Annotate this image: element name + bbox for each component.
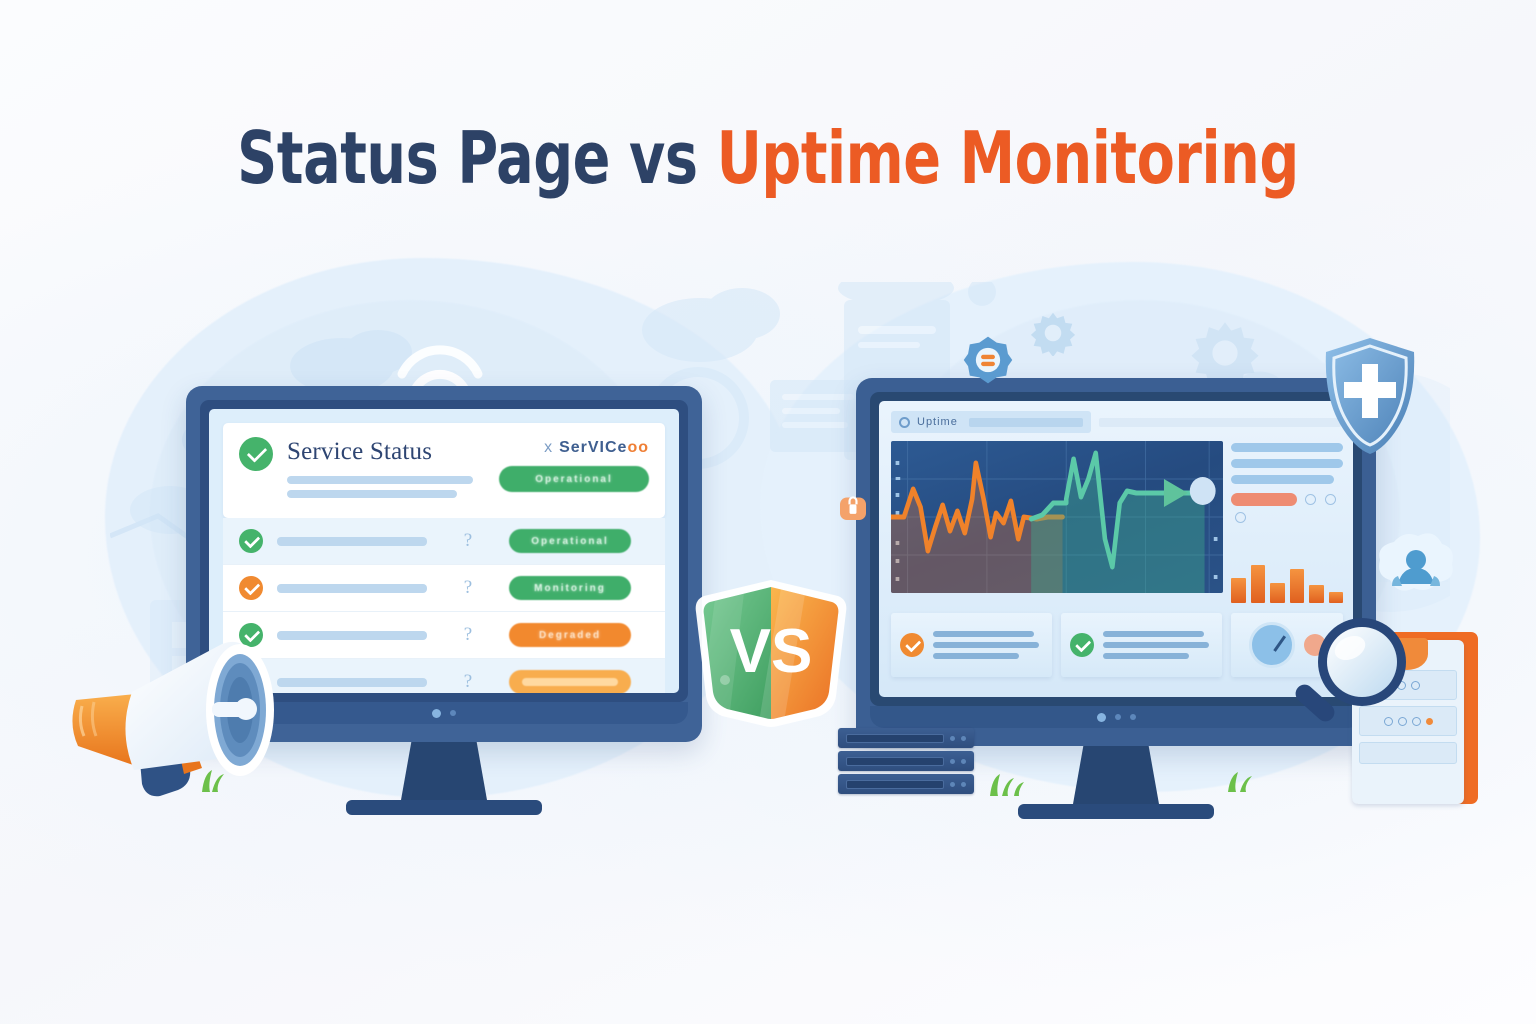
incident-bar-chart	[1231, 543, 1343, 603]
status-badge[interactable]	[509, 670, 631, 693]
shield-health-icon	[1322, 336, 1418, 456]
dashboard-status-cards	[891, 613, 1343, 677]
check-circle-icon	[900, 633, 924, 657]
check-circle-icon	[239, 437, 273, 471]
response-time-line-chart	[891, 441, 1223, 593]
indicator-led	[1130, 714, 1136, 720]
dashboard-side-panel	[1231, 441, 1343, 603]
page-title-banner: Status Page vs Uptime Monitoring	[0, 122, 1536, 194]
check-circle-icon	[1070, 633, 1094, 657]
monitor-base-right	[1018, 804, 1214, 819]
server-unit	[838, 774, 974, 794]
status-dot-icon	[899, 417, 910, 428]
grass-decoration	[1222, 768, 1264, 792]
status-card-warning[interactable]	[891, 613, 1052, 677]
side-panel-chip-row	[1231, 491, 1343, 527]
table-row[interactable]: ? Operational	[223, 518, 665, 565]
tab-uptime[interactable]: Uptime	[891, 411, 1091, 433]
power-led	[1097, 713, 1106, 722]
check-circle-icon	[239, 576, 263, 600]
illustration-canvas: Service Status xSerVICeoo Operational	[0, 0, 1536, 1024]
status-badge[interactable]: Operational	[499, 466, 649, 492]
headline-connector: vs	[610, 116, 717, 200]
user-avatar-badge	[1374, 532, 1458, 606]
magnifier-icon	[1288, 608, 1420, 740]
ring-icon	[1325, 494, 1336, 505]
dashboard-charts	[891, 441, 1343, 603]
table-row[interactable]: ? Monitoring	[223, 565, 665, 612]
status-badge[interactable]: Degraded	[509, 623, 631, 647]
server-unit	[838, 751, 974, 771]
monitor-base-left	[346, 800, 542, 815]
indicator-led	[450, 710, 456, 716]
alert-chip	[1231, 493, 1297, 506]
service-status-header-card: Service Status xSerVICeoo Operational	[223, 423, 665, 518]
check-circle-icon	[239, 529, 263, 553]
ring-icon	[1305, 494, 1316, 505]
indicator-led	[1115, 714, 1121, 720]
vs-badge-svg: VS	[688, 576, 854, 728]
line-chart-svg	[891, 441, 1223, 593]
status-badge[interactable]: Monitoring	[509, 576, 631, 600]
brand-label: xSerVICeoo	[499, 439, 649, 457]
monitor-neck-left	[401, 742, 487, 800]
network-node-icon	[962, 334, 1014, 386]
status-badge[interactable]: Operational	[509, 529, 631, 553]
megaphone-icon	[62, 628, 312, 808]
uptime-dashboard-screen: Uptime	[879, 401, 1353, 697]
headline-part-orange: Uptime Monitoring	[717, 116, 1299, 200]
power-led	[432, 709, 441, 718]
status-card-ok[interactable]	[1061, 613, 1222, 677]
rack-row	[1359, 742, 1457, 764]
grass-decoration	[984, 770, 1030, 796]
lock-badge-icon	[840, 492, 866, 522]
dashboard-toolbar: Uptime	[879, 401, 1353, 437]
monitor-neck-right	[1073, 746, 1159, 804]
server-unit	[838, 728, 974, 748]
server-stack-icon	[838, 728, 974, 800]
header-placeholder-lines	[287, 476, 485, 498]
page-title: Service Status	[287, 438, 485, 466]
ring-icon	[1235, 512, 1246, 523]
gear-icon	[1030, 310, 1076, 356]
headline: Status Page vs Uptime Monitoring	[108, 122, 1429, 194]
vs-badge: VS	[688, 576, 854, 728]
vs-label: VS	[730, 617, 813, 686]
headline-part-navy: Status Page	[237, 116, 610, 200]
